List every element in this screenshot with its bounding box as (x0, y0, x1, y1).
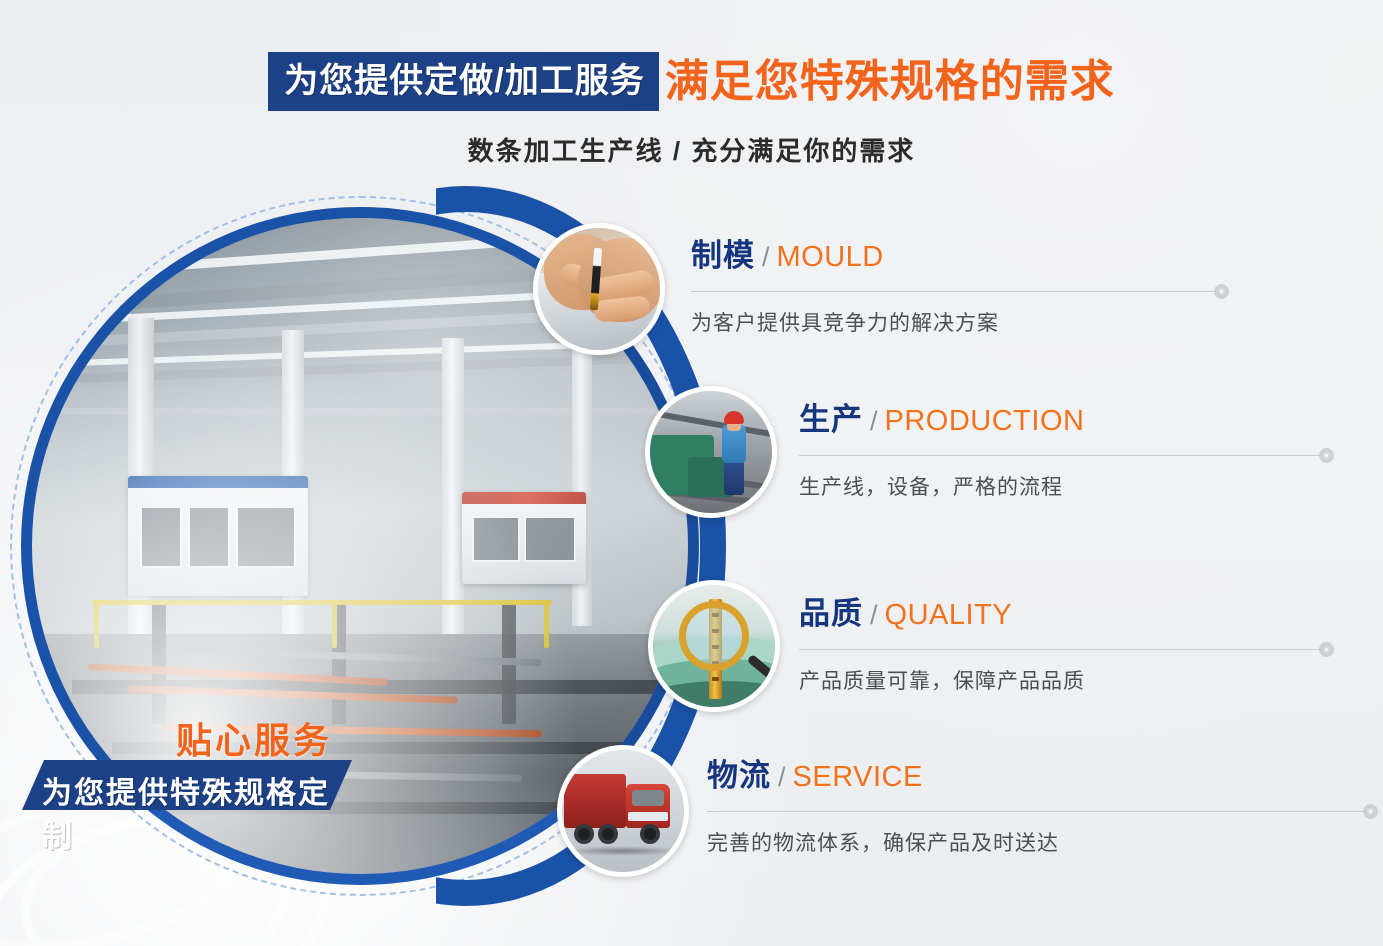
headline-subtitle: 数条加工生产线 / 充分满足你的需求 (0, 131, 1383, 168)
headline: 为您提供定做/加工服务 满足您特殊规格的需求 (0, 52, 1383, 111)
service-title-en: MOULD (777, 241, 884, 273)
service-title-service: 物流/SERVICE (707, 760, 923, 792)
service-title-cn: 物流 (707, 758, 771, 793)
delivery-truck-icon (557, 745, 689, 877)
service-divider (691, 291, 1221, 292)
service-title-slash: / (863, 406, 885, 436)
service-divider (799, 649, 1326, 650)
service-title-production: 生产/PRODUCTION (799, 404, 1084, 436)
service-title-cn: 品质 (799, 596, 863, 631)
service-title-mould: 制模/MOULD (691, 240, 884, 272)
service-title-slash: / (755, 242, 777, 272)
service-title-slash: / (863, 600, 885, 630)
service-desc-mould: 为客户提供具竞争力的解决方案 (691, 307, 999, 337)
service-title-cn: 生产 (799, 402, 863, 437)
divider-end-dot (1214, 284, 1229, 299)
service-title-en: QUALITY (885, 599, 1013, 631)
service-desc-production: 生产线，设备，严格的流程 (799, 471, 1063, 501)
service-block-title: 贴心服务 (176, 712, 332, 764)
service-title-slash: / (771, 762, 793, 792)
divider-end-dot (1363, 804, 1378, 819)
service-divider (707, 811, 1370, 812)
service-title-cn: 制模 (691, 238, 755, 273)
service-title-quality: 品质/QUALITY (799, 598, 1012, 630)
service-desc-service: 完善的物流体系，确保产品及时送达 (707, 827, 1059, 857)
service-block-banner: 为您提供特殊规格定制 (22, 760, 352, 810)
headline-badge: 为您提供定做/加工服务 (268, 52, 658, 111)
factory-worker-icon (645, 386, 777, 518)
service-divider (799, 455, 1326, 456)
service-desc-quality: 产品质量可靠，保障产品品质 (799, 665, 1085, 695)
pen-drawing-icon (533, 223, 665, 355)
divider-end-dot (1319, 448, 1334, 463)
banner-stage: 为您提供定做/加工服务 满足您特殊规格的需求 数条加工生产线 / 充分满足你的需… (0, 0, 1383, 946)
service-title-en: SERVICE (793, 761, 923, 793)
magnifier-inspection-icon (648, 580, 780, 712)
banner-label: 为您提供特殊规格定制 (42, 768, 352, 856)
service-title-en: PRODUCTION (885, 405, 1085, 437)
headline-emphasis: 满足您特殊规格的需求 (659, 60, 1115, 104)
divider-end-dot (1319, 642, 1334, 657)
